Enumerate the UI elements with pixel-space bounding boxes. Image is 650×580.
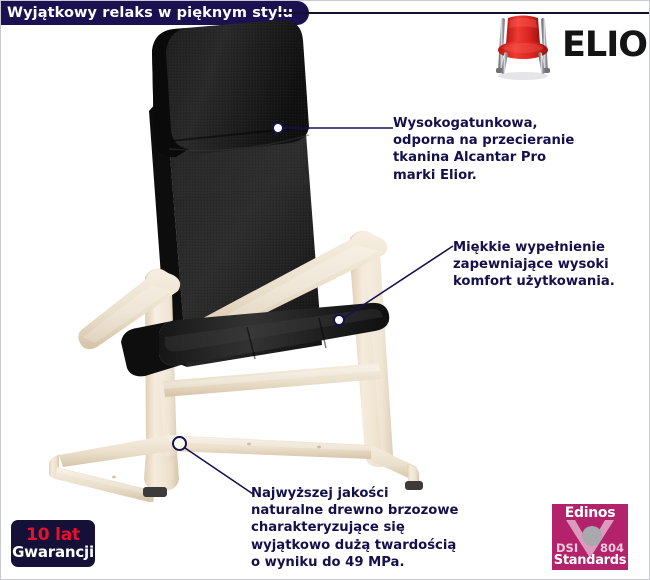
- brand-name: ELIOR: [562, 28, 650, 63]
- warranty-label: Gwarancji: [12, 544, 94, 561]
- infographic-page: Wyjątkowy relaks w pięknym stylu: [0, 0, 650, 580]
- callout-marker-fabric[interactable]: [272, 122, 284, 134]
- brand-logo: ELIOR: [490, 12, 642, 84]
- edinos-standards-badge: Edinos DSI 804 Standards: [552, 504, 628, 570]
- product-image: [19, 15, 449, 502]
- callout-text-wood: Najwyższej jakości naturalne drewno brzo…: [251, 485, 521, 571]
- red-chair-logo-icon: [490, 12, 556, 82]
- callout-text-padding: Miękkie wypełnienie zapewniające wysoki …: [453, 239, 648, 291]
- warranty-badge: 10 lat Gwarancji: [11, 520, 95, 567]
- edinos-subtitle: Standards: [552, 554, 628, 568]
- warranty-years: 10 lat: [26, 526, 80, 544]
- callout-marker-padding[interactable]: [333, 314, 345, 326]
- callout-text-fabric: Wysokogatunkowa, odporna na przecieranie…: [393, 115, 633, 184]
- callout-marker-wood[interactable]: [172, 436, 187, 451]
